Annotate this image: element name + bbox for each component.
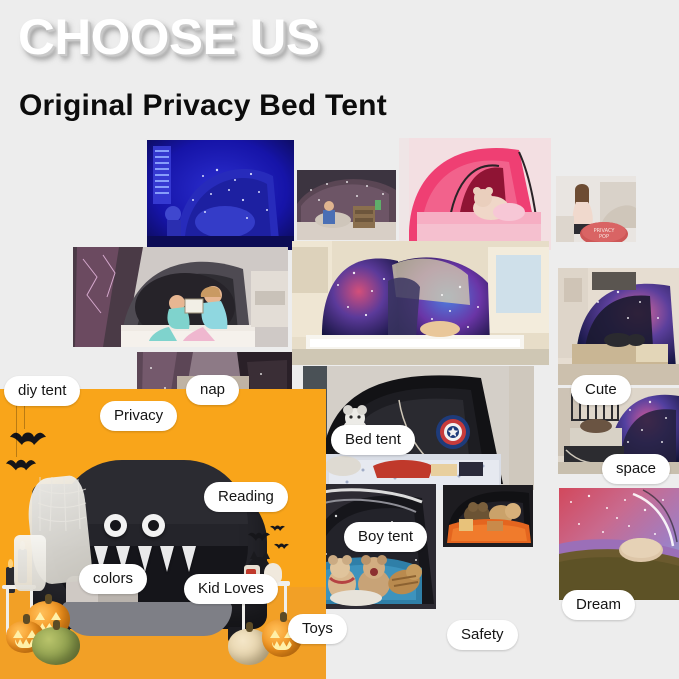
dream-galaxy-bed-image [559, 488, 679, 600]
photo-tile-cute-galaxy-tent [558, 268, 679, 385]
safety-tent-plush-image [443, 485, 533, 547]
label-pill-bed-tent[interactable]: Bed tent [331, 425, 415, 455]
photo-tile-dream-galaxy-bed [559, 488, 679, 600]
label-pill-toys[interactable]: Toys [288, 614, 347, 644]
photo-tile-two-kids-reading [73, 247, 288, 347]
label-pill-safety[interactable]: Safety [447, 620, 518, 650]
galaxy-room-tent-image [297, 170, 396, 240]
galaxy-tent-window-image [292, 241, 549, 365]
monster-tooth [182, 546, 196, 572]
page-subtitle: Original Privacy Bed Tent [19, 88, 387, 124]
spiderweb-icon [36, 475, 92, 533]
bat-swarm-icon [246, 525, 292, 559]
label-pill-diy-tent[interactable]: diy tent [4, 376, 80, 406]
photo-tile-safety-tent-plush [443, 485, 533, 547]
pumpkin-green [32, 627, 80, 665]
photo-tile-privacy-pop-woman: PRIVACYPOP [556, 176, 636, 242]
photo-tile-pink-tent-bed [399, 138, 551, 250]
cute-galaxy-tent-image [558, 268, 679, 385]
blanket [62, 602, 232, 636]
bat-icon [6, 457, 36, 477]
photo-tile-blue-night-tent [147, 140, 294, 250]
monster-eye-icon [142, 514, 165, 537]
photo-tile-galaxy-room-tent [297, 170, 396, 240]
privacy-pop-woman-image: PRIVACYPOP [556, 176, 636, 242]
blue-night-tent-image [147, 140, 294, 250]
label-pill-colors[interactable]: colors [79, 564, 147, 594]
label-pill-reading[interactable]: Reading [204, 482, 288, 512]
label-pill-space[interactable]: space [602, 454, 670, 484]
label-pill-dream[interactable]: Dream [562, 590, 635, 620]
label-pill-kid-loves[interactable]: Kid Loves [184, 574, 278, 604]
label-pill-boy-tent[interactable]: Boy tent [344, 522, 427, 552]
photo-tile-galaxy-tent-window [292, 241, 549, 365]
svg-text:POP: POP [599, 234, 609, 240]
pink-tent-bed-image [399, 138, 551, 250]
label-pill-privacy[interactable]: Privacy [100, 401, 177, 431]
page-title: CHOOSE US [18, 8, 319, 66]
pumpkin-stem [53, 620, 60, 630]
monster-eye-icon [104, 514, 127, 537]
promo-infographic: CHOOSE US Original Privacy Bed Tent [0, 0, 679, 679]
draped-cloth [14, 535, 46, 591]
two-kids-reading-image [73, 247, 288, 347]
monster-tooth [160, 546, 174, 572]
label-pill-nap[interactable]: nap [186, 375, 239, 405]
label-pill-cute[interactable]: Cute [571, 375, 631, 405]
halloween-scene-panel [0, 389, 326, 679]
pumpkin-stem [246, 622, 253, 632]
